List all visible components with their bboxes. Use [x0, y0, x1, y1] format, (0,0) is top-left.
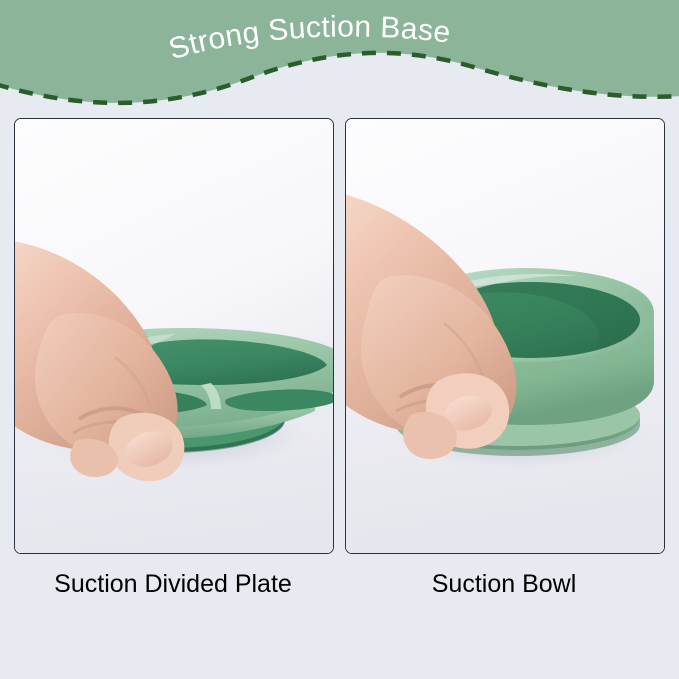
panel-suction-divided-plate[interactable] — [14, 118, 334, 554]
caption-suction-bowl: Suction Bowl — [345, 567, 663, 601]
header-banner — [0, 0, 679, 125]
product-feature-image: Strong Suction Base — [0, 0, 679, 679]
banner-wave-shape — [0, 0, 679, 103]
photo-suction-divided-plate — [15, 119, 333, 553]
panel-suction-bowl[interactable] — [345, 118, 665, 554]
photo-suction-bowl — [346, 119, 664, 553]
caption-suction-divided-plate: Suction Divided Plate — [14, 567, 332, 601]
